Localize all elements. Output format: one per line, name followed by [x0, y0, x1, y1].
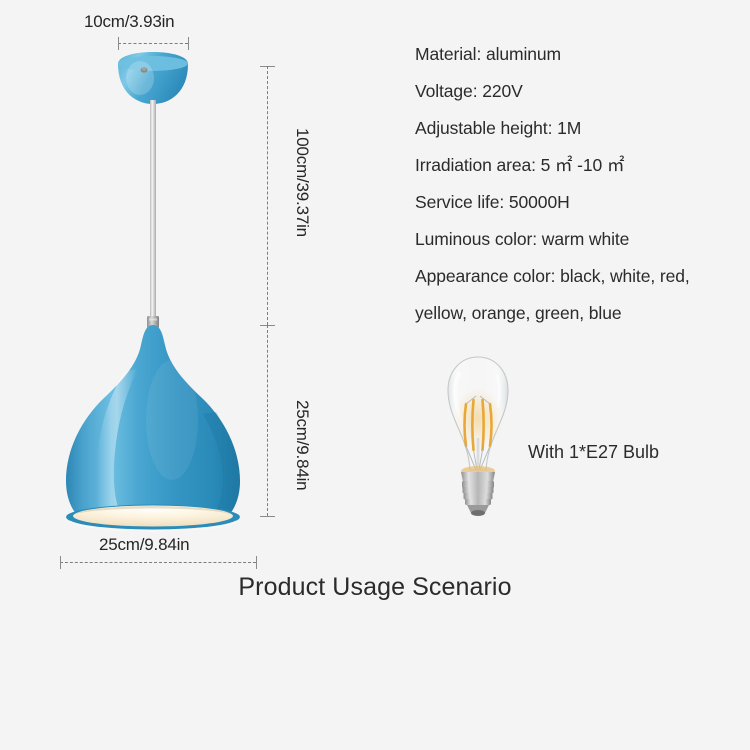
bulb-caption: With 1*E27 Bulb	[528, 442, 659, 463]
dimension-label-canopy-width: 10cm/3.93in	[84, 12, 174, 32]
dimension-label-shade-height: 25cm/9.84in	[292, 400, 312, 490]
dimension-line-shade-height	[267, 325, 268, 516]
spec-line-irradiation-area: Irradiation area: 5 ㎡ -10 ㎡	[415, 147, 735, 184]
pendant-lamp-illustration	[0, 0, 400, 600]
usage-scenario-title: Product Usage Scenario	[0, 573, 750, 602]
spec-line-appearance-color-continued: yellow, orange, green, blue	[415, 295, 735, 332]
spec-line-service-life: Service life: 50000H	[415, 184, 735, 221]
spec-line-material: Material: aluminum	[415, 36, 735, 73]
bulb-e27-base	[461, 472, 495, 516]
spec-line-appearance-color: Appearance color: black, white, red,	[415, 258, 735, 295]
extension-tick-bottom	[260, 516, 275, 517]
product-spec-image: 10cm/3.93in 100cm/39.37in 25cm/9.84in 25…	[0, 0, 750, 750]
dimension-line-canopy-width	[118, 43, 188, 44]
ceiling-canopy	[118, 52, 188, 104]
dimension-label-cord-length: 100cm/39.37in	[292, 128, 312, 237]
spec-line-luminous-color: Luminous color: warm white	[415, 221, 735, 258]
spec-line-adjustable-height: Adjustable height: 1M	[415, 110, 735, 147]
dimension-tick-width-left	[60, 556, 61, 569]
dimension-tick-canopy-right	[188, 37, 189, 50]
dimension-tick-width-right	[256, 556, 257, 569]
dimension-line-shade-width	[60, 562, 256, 563]
hanging-cord	[150, 100, 156, 322]
dimension-line-cord-length	[267, 66, 268, 325]
dimension-label-shade-width: 25cm/9.84in	[99, 535, 189, 555]
specification-list: Material: aluminum Voltage: 220V Adjusta…	[415, 36, 735, 332]
lamp-shade	[66, 325, 240, 531]
dimension-tick-canopy-left	[118, 37, 119, 50]
edison-bulb-illustration	[428, 352, 528, 527]
spec-line-voltage: Voltage: 220V	[415, 73, 735, 110]
